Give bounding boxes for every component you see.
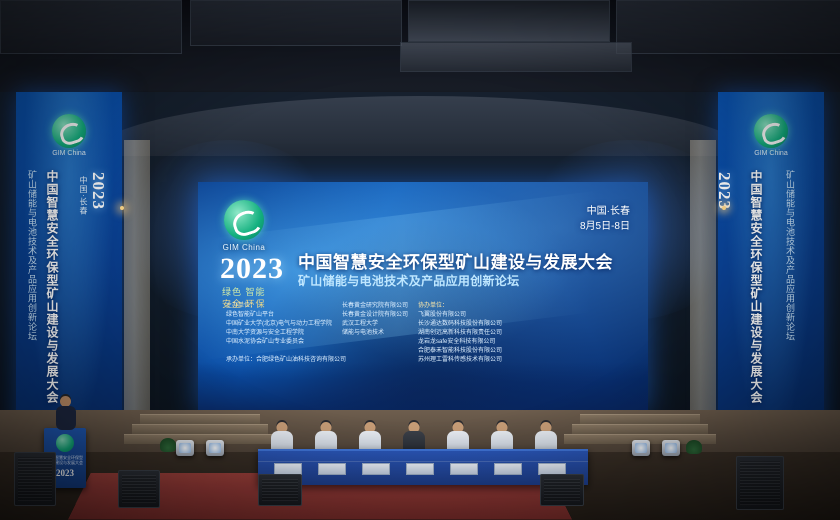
ceiling-banner (400, 42, 632, 72)
credits-line: 储能与电池技术 (342, 329, 408, 338)
credits-line: 武汉工程大学 (342, 320, 408, 329)
stage-monitor-speaker (258, 474, 302, 506)
led-skyline (198, 362, 648, 412)
banner-left-year: 2023 (88, 172, 108, 210)
gim-logo-icon (754, 114, 788, 148)
panelist (402, 422, 426, 452)
gim-logo-left: GIM China (40, 114, 98, 157)
nameplate (362, 463, 390, 475)
wall-pillar (124, 140, 150, 420)
stage-monitor-speaker (540, 474, 584, 506)
led-dates: 8月5日-8日 (580, 219, 630, 234)
gim-logo-icon (224, 200, 264, 240)
led-place: 中国·长春 (580, 204, 630, 219)
nameplate (450, 463, 478, 475)
gim-logo-text: GIM China (40, 150, 98, 157)
credits-line: 长春黄金设计院有限公司 (342, 311, 408, 320)
moving-head-light (632, 440, 650, 456)
credits-line: 长沙通达数码科技股份有限公司 (418, 320, 502, 329)
led-year: 2023 (220, 252, 284, 286)
stage-photo-scene: GIM China 2023 中国·长春 中国智慧安全环保型矿山建设与发展大会 … (0, 0, 840, 520)
credits-line: 中南大学资源与安全工程学院 (226, 329, 332, 338)
ceiling-panel (408, 0, 610, 42)
panelist (490, 422, 514, 452)
stage-step (140, 414, 260, 424)
led-place-dates: 中国·长春 8月5日-8日 (580, 204, 630, 234)
attendee-body (56, 406, 76, 430)
nameplate (318, 463, 346, 475)
panelist (358, 422, 382, 452)
pa-speaker (14, 452, 56, 506)
credits-line: 绿色智能矿山平台 (226, 311, 332, 320)
credits-column: 长春黄金研究院有限公司 长春黄金设计院有限公司 武汉工程大学 储能与电池技术 (342, 302, 408, 365)
gim-logo-text: GIM China (742, 150, 800, 157)
credits-line: 中国水泥协会矿山专业委员会 (226, 338, 332, 347)
credits-heading: 协办单位： (418, 302, 502, 311)
gim-logo-right: GIM China (742, 114, 800, 157)
credits-line: 长春黄金研究院有限公司 (342, 302, 408, 311)
stage-step (580, 414, 700, 424)
stage-highlight (722, 206, 726, 210)
wall-pillar (690, 140, 716, 420)
panelist (446, 422, 470, 452)
moving-head-light (206, 440, 224, 456)
table-trim (258, 461, 588, 462)
credits-line: 飞翼股份有限公司 (418, 311, 502, 320)
panelist (314, 422, 338, 452)
credits-line: 苏州理工雷科传感技术有限公司 (418, 356, 502, 365)
decor-plant (160, 438, 176, 452)
attendee (56, 396, 78, 430)
led-title-sub: 矿山储能与电池技术及产品应用创新论坛 (298, 272, 638, 289)
panelist (270, 422, 294, 452)
led-main-screen: GIM China 2023 绿色 智能 安全 环保 中国智慧安全环保型矿山建设… (198, 182, 648, 412)
led-logo: GIM China (214, 200, 274, 252)
ceiling-panel (616, 0, 840, 54)
panelist (534, 422, 558, 452)
gim-logo-icon (52, 114, 86, 148)
credits-column: 协办单位： 飞翼股份有限公司 长沙通达数码科技股份有限公司 湖南创远高新科技有限… (418, 302, 502, 365)
stage-step (124, 434, 276, 444)
led-title-main: 中国智慧安全环保型矿山建设与发展大会 (298, 248, 634, 273)
head-table (258, 449, 588, 485)
credits-line: 龙岩龙safe安全科技有限公司 (418, 338, 502, 347)
ceiling-panel (0, 0, 182, 54)
ceiling-panel (190, 0, 402, 46)
led-logo-text: GIM China (214, 243, 274, 252)
nameplate (494, 463, 522, 475)
stage-step (132, 424, 268, 434)
led-slogan-line1: 绿色 智能 (222, 286, 266, 298)
decor-plant (686, 440, 702, 454)
banner-left-place: 中国·长春 (78, 176, 89, 216)
moving-head-light (176, 440, 194, 456)
pa-speaker (736, 456, 784, 510)
nameplate (406, 463, 434, 475)
gim-logo-icon (56, 434, 74, 452)
credits-line: 合肥泰禾智能科技股份有限公司 (418, 347, 502, 356)
moving-head-light (662, 440, 680, 456)
led-organizer-line: 承办单位：合肥绿色矿山油科技咨询有限公司 (226, 354, 346, 363)
stage-step (572, 424, 708, 434)
stage-highlight (120, 206, 124, 210)
credits-line: 湖南创远高新科技有限责任公司 (418, 329, 502, 338)
credits-line: 中国矿业大学(北京)电气与动力工程学院 (226, 320, 332, 329)
stage-monitor-speaker (118, 470, 160, 508)
banner-right-year: 2023 (718, 172, 734, 210)
credits-heading: 主办单位： (226, 302, 332, 311)
